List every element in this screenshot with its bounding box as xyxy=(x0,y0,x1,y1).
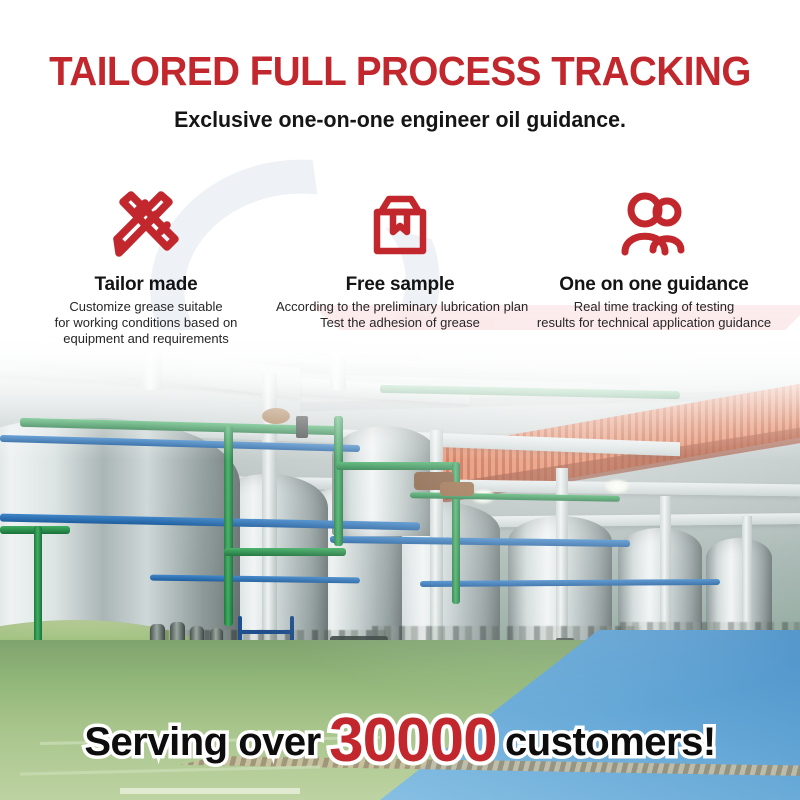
feature-item-free-sample: Free sample According to the preliminary… xyxy=(276,186,524,347)
banner-prefix: Serving over xyxy=(84,720,320,764)
page-title: TAILORED FULL PROCESS TRACKING xyxy=(24,48,776,95)
ruler-pencil-icon xyxy=(22,186,270,264)
customers-banner: Serving over 30000 customers! xyxy=(0,704,800,766)
feature-description: Real time tracking of testing results fo… xyxy=(530,299,778,331)
feature-title: Tailor made xyxy=(22,274,270,296)
feature-list: Tailor made Customize grease suitable fo… xyxy=(0,186,800,347)
feature-title: One on one guidance xyxy=(530,274,778,296)
feature-description: According to the preliminary lubrication… xyxy=(276,299,524,331)
feature-title: Free sample xyxy=(276,274,524,296)
promo-banner: TAILORED FULL PROCESS TRACKING Exclusive… xyxy=(0,0,800,800)
feature-desc-line: results for technical application guidan… xyxy=(530,315,778,331)
feature-desc-line: Test the adhesion of grease xyxy=(276,315,524,331)
feature-desc-line: Real time tracking of testing xyxy=(530,299,778,315)
feature-desc-line: Customize grease suitable xyxy=(22,299,270,315)
feature-description: Customize grease suitable for working co… xyxy=(22,299,270,347)
banner-suffix: customers! xyxy=(505,720,716,764)
two-people-icon xyxy=(530,186,778,264)
header: TAILORED FULL PROCESS TRACKING Exclusive… xyxy=(0,0,800,133)
package-box-icon xyxy=(276,186,524,264)
feature-desc-line: According to the preliminary lubrication… xyxy=(276,299,524,315)
banner-number: 30000 xyxy=(329,706,496,775)
feature-item-one-on-one: One on one guidance Real time tracking o… xyxy=(530,186,778,347)
feature-desc-line: equipment and requirements xyxy=(22,331,270,347)
feature-item-tailor-made: Tailor made Customize grease suitable fo… xyxy=(22,186,270,347)
feature-desc-line: for working conditions based on xyxy=(22,315,270,331)
page-subtitle: Exclusive one-on-one engineer oil guidan… xyxy=(12,107,788,133)
